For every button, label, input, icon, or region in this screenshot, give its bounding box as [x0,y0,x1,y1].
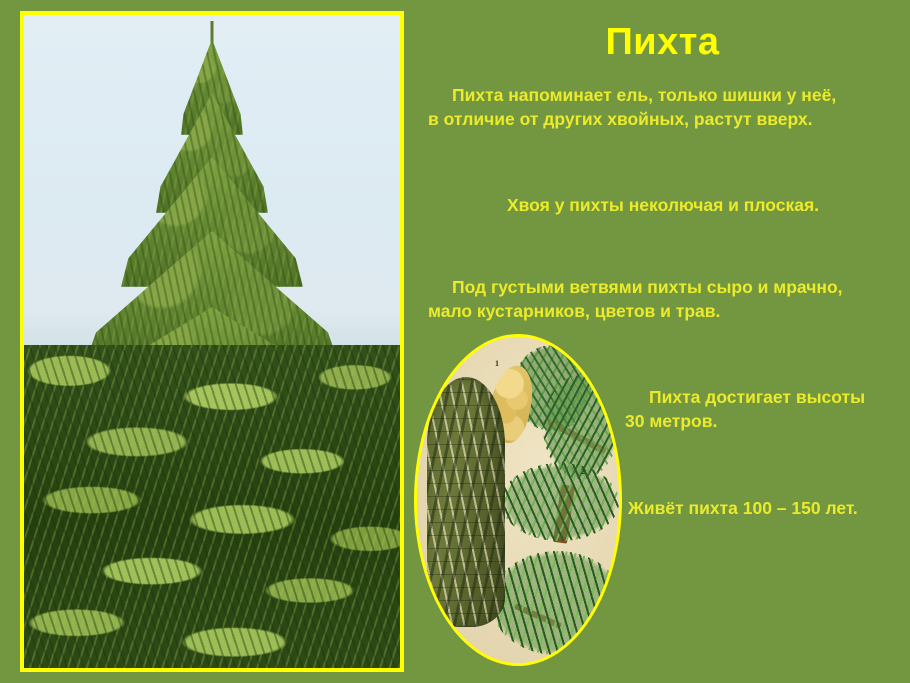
photo-content [24,15,400,668]
paragraph-line: в отличие от других хвойных, растут ввер… [428,107,898,131]
paragraph-undergrowth: Под густыми ветвями пихты сыро и мрачно,… [428,275,898,323]
botanical-illustration-oval: 1 2 [414,334,622,666]
fir-tree-photo [20,11,404,672]
paragraph-line: Пихта достигает высоты [625,385,900,409]
illustration-label-1: 1 [495,359,499,368]
paragraph-appearance: Пихта напоминает ель, только шишки у неё… [428,83,898,131]
paragraph-line: Пихта напоминает ель, только шишки у неё… [428,83,898,107]
fir-branch [501,463,619,541]
fir-branch [491,551,622,655]
paragraph-line: Хвоя у пихты неколючая и плоская. [428,193,898,217]
paragraph-lifespan: Живёт пихта 100 – 150 лет. [628,496,903,520]
paragraph-line: 30 метров. [625,409,900,433]
fir-cone [427,377,505,627]
illustration-label-2: 2 [581,467,585,476]
paragraph-needles: Хвоя у пихты неколючая и плоская. [428,193,898,217]
paragraph-height: Пихта достигает высоты 30 метров. [625,385,900,433]
slide-title: Пихта [430,20,895,64]
paragraph-line: Под густыми ветвями пихты сыро и мрачно, [428,275,898,299]
paragraph-line: Живёт пихта 100 – 150 лет. [628,496,903,520]
dense-foliage [24,345,400,668]
paragraph-line: мало кустарников, цветов и трав. [428,299,898,323]
slide-canvas: Пихта Пихта напоминает ель, только шишки… [0,0,910,683]
